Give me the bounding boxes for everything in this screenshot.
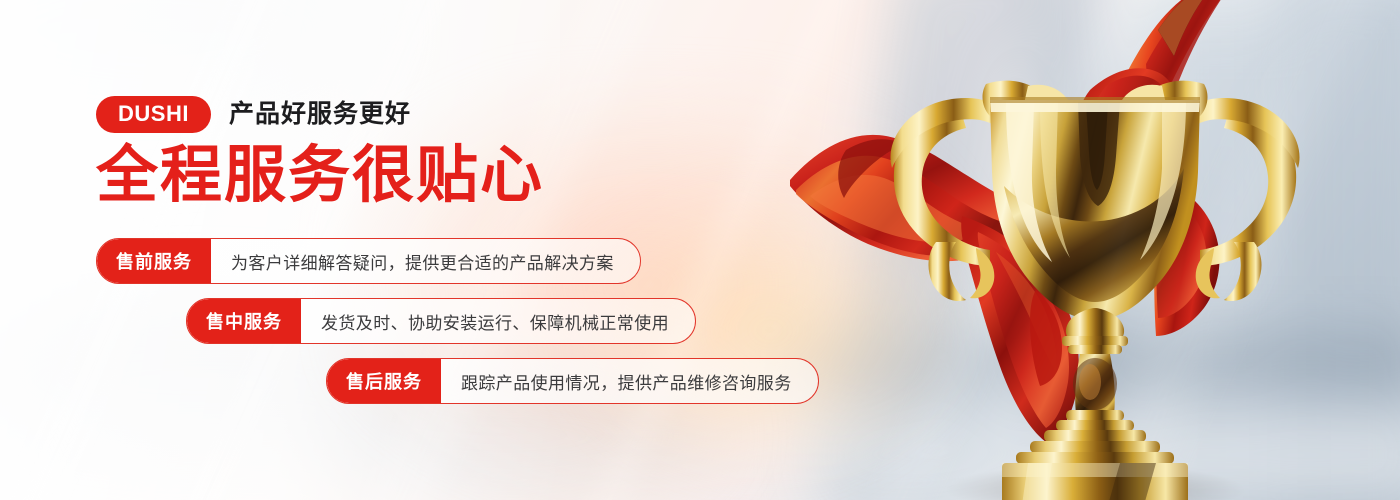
list-item: 售后服务 跟踪产品使用情况，提供产品维修咨询服务 — [326, 358, 900, 404]
service-pill-aftersale[interactable]: 售后服务 跟踪产品使用情况，提供产品维修咨询服务 — [326, 358, 819, 404]
service-desc: 跟踪产品使用情况，提供产品维修咨询服务 — [441, 359, 818, 403]
service-tag: 售后服务 — [327, 359, 441, 403]
promo-banner: DUSHI 产品好服务更好 全程服务很贴心 售前服务 为客户详细解答疑问，提供更… — [0, 0, 1400, 500]
service-tag: 售中服务 — [187, 299, 301, 343]
service-pill-insale[interactable]: 售中服务 发货及时、协助安装运行、保障机械正常使用 — [186, 298, 696, 344]
service-tag: 售前服务 — [97, 239, 211, 283]
eyebrow-text: 产品好服务更好 — [229, 102, 411, 127]
page-title: 全程服务很贴心 — [96, 143, 544, 208]
brand-badge: DUSHI — [96, 96, 211, 133]
eyebrow-row: DUSHI 产品好服务更好 — [96, 96, 411, 133]
service-desc: 发货及时、协助安装运行、保障机械正常使用 — [301, 299, 695, 343]
service-desc: 为客户详细解答疑问，提供更合适的产品解决方案 — [211, 239, 640, 283]
banner-content: DUSHI 产品好服务更好 全程服务很贴心 售前服务 为客户详细解答疑问，提供更… — [0, 0, 900, 500]
service-list: 售前服务 为客户详细解答疑问，提供更合适的产品解决方案 售中服务 发货及时、协助… — [0, 238, 900, 418]
list-item: 售前服务 为客户详细解答疑问，提供更合适的产品解决方案 — [96, 238, 900, 284]
list-item: 售中服务 发货及时、协助安装运行、保障机械正常使用 — [186, 298, 900, 344]
service-pill-presale[interactable]: 售前服务 为客户详细解答疑问，提供更合适的产品解决方案 — [96, 238, 641, 284]
